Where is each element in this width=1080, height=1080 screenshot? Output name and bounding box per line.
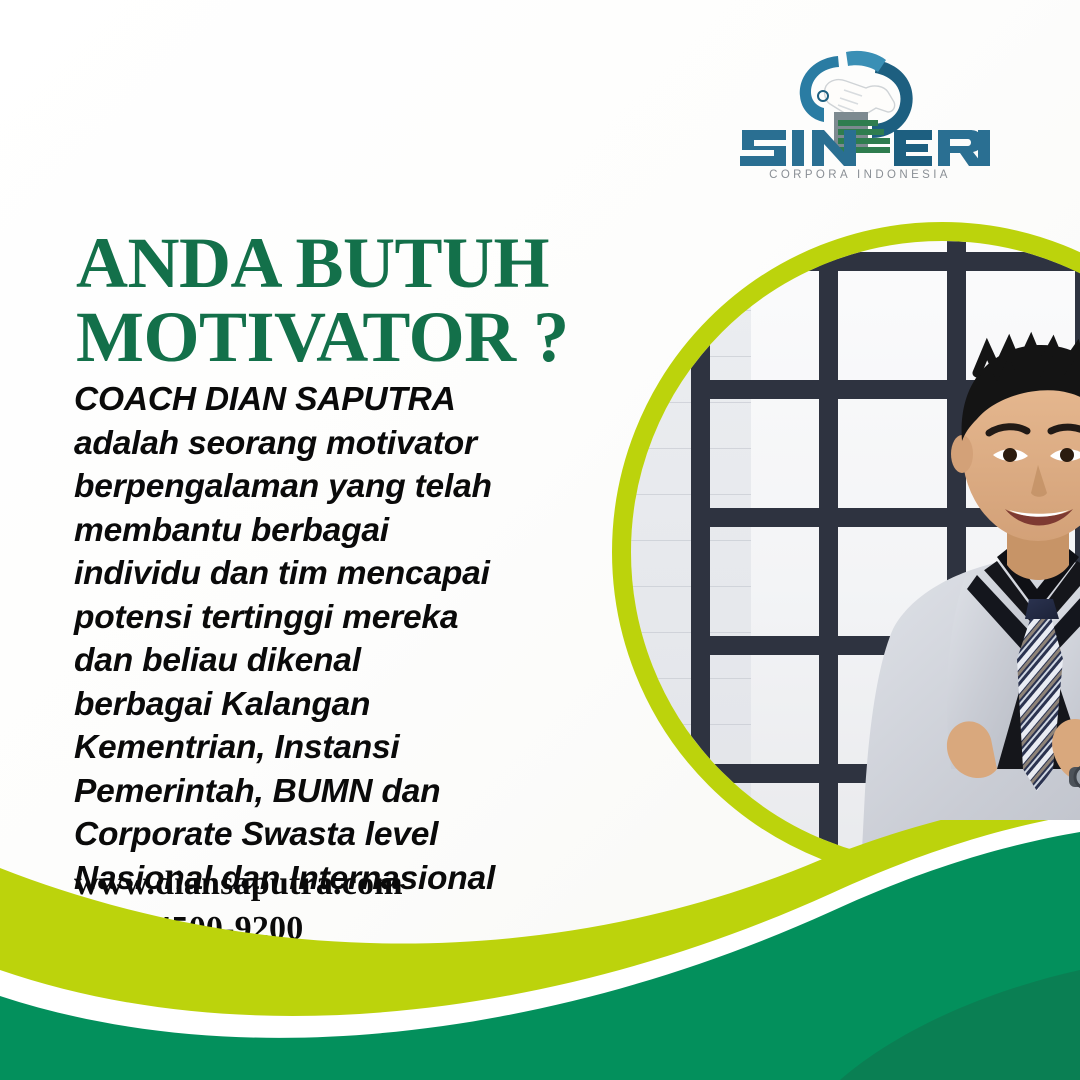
body-line: Pemerintah, BUMN dan <box>74 770 574 814</box>
building-stairs-icon <box>834 112 890 153</box>
portrait-circle <box>612 222 1080 882</box>
headline-line-1: ANDA BUTUH <box>76 223 549 303</box>
body-line: adalah seorang motivator <box>74 422 574 466</box>
promo-poster: CORPORA INDONESIA ANDA BUTUH MOTIVATOR ?… <box>0 0 1080 1080</box>
body-line: potensi tertinggi mereka <box>74 596 574 640</box>
body-line: Kementrian, Instansi <box>74 726 574 770</box>
body-line: berpengalaman yang telah <box>74 465 574 509</box>
logo-tagline: CORPORA INDONESIA <box>769 169 951 181</box>
bottom-wave-decoration <box>0 820 1080 1080</box>
headline-line-2: MOTIVATOR ? <box>76 300 636 374</box>
headline: ANDA BUTUH MOTIVATOR ? <box>76 226 636 374</box>
body-line: dan beliau dikenal <box>74 639 574 683</box>
handshake-icon <box>818 80 895 117</box>
body-line: membantu berbagai <box>74 509 574 553</box>
body-line: berbagai Kalangan <box>74 683 574 727</box>
body-line: individu dan tim mencapai <box>74 552 574 596</box>
sinergi-logo: CORPORA INDONESIA <box>726 34 994 182</box>
body-line: COACH DIAN SAPUTRA <box>74 378 574 422</box>
